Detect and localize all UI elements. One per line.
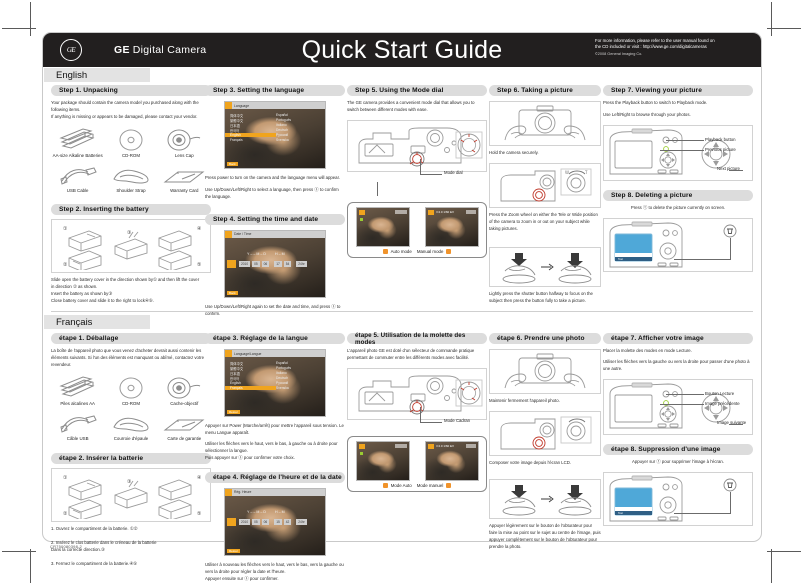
lang-row-selected[interactable]: FrançaisSvenska — [225, 386, 325, 391]
next-picture-label: Next picture — [717, 166, 740, 171]
item-strap: Courroie d'épaule — [104, 409, 157, 441]
lang-left: Français — [225, 386, 276, 390]
svg-text:③: ③ — [127, 479, 131, 485]
crop-mark-bottom-right-v — [771, 549, 772, 583]
playback-button-label: Playback button — [705, 137, 736, 142]
item-cdrom: CD-ROM — [104, 126, 157, 158]
step-6-title: Step 6. Taking a picture — [497, 87, 573, 94]
svg-text:②: ② — [63, 511, 68, 517]
lang-right: Italiano — [276, 371, 325, 375]
cd-rom-icon — [104, 126, 157, 152]
lang-left: 한국어 — [225, 376, 276, 381]
datetime-day[interactable]: 06 — [262, 519, 270, 525]
header-note-line2: the CD included or visit : http://www.ge… — [595, 44, 752, 50]
svg-text:T: T — [584, 170, 588, 175]
lcd-back-button[interactable]: Back — [227, 291, 238, 295]
item-lenscap: Cache-objectif — [158, 374, 211, 406]
step-1-title: Step 1. Unpacking — [59, 87, 118, 94]
etape-2-title: étape 2. Insérer la batterie — [59, 455, 143, 462]
lcd-menu-icon — [225, 231, 232, 238]
item-strap-label: Shoulder Strap — [104, 188, 157, 193]
etape-6-caption-3: Appuyer légèrement sur le bouton de l'ob… — [489, 523, 601, 551]
en-column-1: Step 1. Unpacking Your package should co… — [51, 85, 211, 305]
lcd-menu-titlebar: Language — [225, 102, 325, 109]
zoom-wheel-diagram-fr — [489, 411, 601, 456]
mode-dial-leader — [420, 407, 421, 423]
etape-4-body: Utiliser à nouveau les flèches vers le h… — [205, 562, 345, 583]
language-tab-english-label: English — [56, 70, 87, 81]
datetime-screen-en: Date / Time Y––M–D H–M 2010 05 06 17 54 … — [224, 230, 326, 298]
lang-row[interactable]: EnglishРусский — [225, 381, 325, 386]
etape-5-body: L'appareil photo GE est doté d'un sélect… — [347, 348, 487, 362]
step-2-body: Slide open the battery cover in the dire… — [51, 277, 211, 305]
shutter-press-diagram-en — [489, 247, 601, 287]
lang-left: English — [225, 381, 276, 385]
item-strap: Shoulder Strap — [104, 161, 157, 193]
lang-left: Français — [225, 138, 276, 142]
svg-text:④: ④ — [197, 475, 202, 481]
datetime-hour[interactable]: 17 — [274, 261, 282, 267]
item-usbcable-label: Câble USB — [51, 436, 104, 441]
item-batteries-label: Piles alcalines AA — [51, 401, 104, 406]
datetime-year[interactable]: 2010 — [239, 261, 250, 267]
auto-mode-label: Auto mode — [391, 249, 412, 254]
lang-right: Español — [276, 113, 325, 117]
lcd-menu-title: Language — [234, 104, 249, 108]
datetime-fields: 2010 05 06 15 42 24hr — [239, 519, 309, 525]
item-batteries: Piles alcalines AA — [51, 374, 104, 406]
item-warranty: Carte de garantie — [158, 409, 211, 441]
lcd-language-list: 简体中文Español 繁體中文Português 日本語Italiano 한국… — [225, 357, 325, 416]
mode-examples-box-fr: F4.0 1/60 EV Mode Auto Mode manuel — [347, 436, 487, 492]
lcd-menu-icon — [225, 102, 232, 109]
auto-mode-icon — [383, 483, 388, 488]
quick-start-sheet: GE GEDigital Camera Quick Start Guide Fo… — [42, 32, 762, 542]
etape-3-body-2: Utiliser les flèches vers le haut, vers … — [205, 441, 345, 462]
cd-rom-icon — [104, 374, 157, 400]
svg-text:④: ④ — [197, 226, 202, 232]
crop-mark-bottom-left-h — [2, 551, 36, 552]
item-cdrom-label: CD-ROM — [104, 153, 157, 158]
delete-menu-row-1: Suppression — [618, 253, 632, 256]
crop-mark-top-left-h — [2, 28, 36, 29]
page-canvas: GE GEDigital Camera Quick Start Guide Fo… — [0, 0, 802, 585]
fr-column-2: étape 3. Réglage de la langue Language/L… — [205, 333, 345, 583]
fr-column-5: étape 7. Afficher votre image Placer la … — [603, 333, 753, 526]
etape-1-title: étape 1. Déballage — [59, 335, 118, 342]
delete-menu-row-2: Tout — [618, 258, 623, 261]
etape-8-header: étape 8. Suppression d'une image — [603, 444, 753, 455]
datetime-header: Y––M–D H–M — [247, 252, 286, 256]
datetime-header-hm: H–M — [275, 252, 286, 256]
step-8-header: Step 8. Deleting a picture — [603, 190, 753, 201]
lang-left: 한국어 — [225, 128, 276, 133]
battery-insert-diagram-fr: ①② ③④⑤ — [51, 468, 211, 522]
warranty-card-icon — [158, 409, 211, 435]
mode-dial-leader — [420, 159, 421, 175]
auto-mode-screenshot — [356, 441, 410, 481]
svg-text:①: ① — [63, 226, 68, 232]
datetime-hour[interactable]: 15 — [274, 519, 282, 525]
crop-mark-bottom-left-v — [30, 549, 31, 583]
svg-text:②: ② — [63, 262, 68, 268]
lang-right: Svenska — [276, 138, 325, 142]
step-5-body: The GE camera provides a convenient mode… — [347, 100, 487, 114]
delete-picture-diagram-fr: Suppression Tout — [603, 472, 753, 526]
datetime-screen-fr: Rég. Heure Y––M–D H–M 2010 05 06 15 42 2… — [224, 488, 326, 556]
step-4-title: Step 4. Setting the time and date — [213, 216, 318, 223]
mode-captions-en: Auto mode Manual mode — [348, 249, 486, 254]
crop-mark-bottom-right-h — [767, 551, 801, 552]
etape-6-caption-1: Maintenir fermement l'appareil photo. — [489, 398, 601, 405]
etape-7-body-2: Utiliser les flèches vers la gauche ou v… — [603, 359, 753, 373]
mode-dial-callout-label: Mode dial — [444, 170, 463, 175]
etape-6-caption-2: Composer votre image depuis l'écran LCD. — [489, 460, 601, 467]
previous-picture-label: Previous picture — [705, 147, 736, 152]
svg-text:⑤: ⑤ — [197, 511, 201, 517]
datetime-fields: 2010 05 06 17 54 24hr — [239, 261, 309, 267]
camera-back-diagram-fr: Bouton Lecture Image précédente Image su… — [603, 379, 753, 435]
etape-3-title: étape 3. Réglage de la langue — [213, 335, 308, 342]
lcd-back-button[interactable]: Retour — [227, 549, 240, 553]
etape-6-title: étape 6. Prendre une photo — [497, 335, 585, 342]
step-5-header: Step 5. Using the Mode dial — [347, 85, 487, 96]
delete-menu-row-1: Suppression — [618, 507, 632, 510]
item-usbcable: USB Cable — [51, 161, 104, 193]
manual-mode-icon — [446, 483, 451, 488]
step-1-header: Step 1. Unpacking — [51, 85, 211, 96]
step-2-header: Step 2. Inserting the battery — [51, 204, 211, 215]
image-suivante-label: Image suivante — [717, 420, 746, 425]
step-7-title: Step 7. Viewing your picture — [611, 87, 702, 94]
en-column-4: Step 6. Taking a picture Hold the camera… — [489, 85, 601, 305]
lcd-menu-icon — [225, 350, 232, 357]
etape-7-body-1: Placer la molette des modes en mode Lect… — [603, 348, 753, 355]
lcd-menu-titlebar: Rég. Heure — [225, 489, 325, 496]
camera-back-diagram-en: Playback button Previous picture Next pi… — [603, 125, 753, 181]
lang-right: Deutsch — [276, 376, 325, 380]
playback-leader — [666, 140, 704, 141]
language-menu-screen-en: Language 简体中文Español 繁體中文Português 日本語It… — [224, 101, 326, 169]
lang-row[interactable]: FrançaisSvenska — [225, 138, 325, 143]
en-column-2: Step 3. Setting the language Language 简体… — [205, 85, 345, 318]
usb-cable-icon — [51, 161, 104, 187]
datetime-month[interactable]: 05 — [252, 519, 260, 525]
lang-right: Deutsch — [276, 128, 325, 132]
bouton-lecture-label: Bouton Lecture — [705, 391, 734, 396]
item-batteries-label: AA-size Alkaline Batteries — [51, 153, 104, 158]
delete-leader-h — [674, 513, 731, 514]
datetime-month[interactable]: 05 — [252, 261, 260, 267]
step-7-body-2: Use Left/Right to browse through your ph… — [603, 112, 753, 119]
svg-text:W: W — [565, 170, 569, 175]
delete-leader-h — [674, 259, 731, 260]
item-lenscap-label: Cache-objectif — [158, 401, 211, 406]
unpacking-items-fr: Piles alcalines AA CD-ROM — [51, 374, 211, 444]
delete-picture-diagram-en: Suppression Tout — [603, 218, 753, 272]
datetime-day[interactable]: 06 — [262, 261, 270, 267]
lang-right: Русский — [276, 381, 325, 385]
playback-leader — [666, 394, 704, 395]
en-column-3: Step 5. Using the Mode dial The GE camer… — [347, 85, 487, 258]
etape-3-body-1: Appuyer sur Power (Marche/arrêt) pour me… — [205, 423, 345, 437]
datetime-header-ymd: Y––M–D — [247, 510, 267, 514]
lcd-menu-titlebar: Language/Langue — [225, 350, 325, 357]
item-usbcable-label: USB Cable — [51, 188, 104, 193]
document-code: CR750080398-2 — [50, 544, 82, 549]
language-tab-francais-label: Français — [56, 317, 92, 328]
item-cdrom: CD-ROM — [104, 374, 157, 406]
lang-right: Italiano — [276, 123, 325, 127]
item-warranty-label: Carte de garantie — [158, 436, 211, 441]
manual-mode-label: Mode manuel — [417, 483, 444, 488]
etape-1-body: La boîte de l'appareil photo que vous ve… — [51, 348, 211, 369]
header-copyright: ©2008 General Imaging Co. — [595, 52, 752, 58]
etape-8-title: étape 8. Suppression d'une image — [611, 446, 721, 453]
image-precedente-label: Image précédente — [705, 401, 740, 406]
mode-dial-leader-h — [420, 422, 442, 423]
etape-8-body: Appuyer sur ⓣ pour supprimer l'image à l… — [603, 459, 753, 466]
shoulder-strap-icon — [104, 409, 157, 435]
lang-right: Português — [276, 118, 325, 122]
item-warranty: Warranty Card — [158, 161, 211, 193]
delete-menu-row-2: Tout — [618, 512, 623, 515]
crop-mark-top-left-v — [30, 2, 31, 36]
step-6-header: Step 6. Taking a picture — [489, 85, 601, 96]
item-strap-label: Courroie d'épaule — [104, 436, 157, 441]
language-menu-screen-fr: Language/Langue 简体中文Español 繁體中文Portuguê… — [224, 349, 326, 417]
step-8-body: Press ⓣ to delete the picture currently … — [603, 205, 753, 212]
datetime-header: Y––M–D H–M — [247, 510, 286, 514]
item-usbcable: Câble USB — [51, 409, 104, 441]
header-note: For more information, please refer to th… — [595, 38, 752, 58]
etape-5-header: étape 5. Utilisation de la molette des m… — [347, 333, 487, 344]
lang-right: Svenska — [276, 386, 325, 390]
mode-dial-callout-label: Mode Cadran — [444, 418, 470, 423]
svg-text:①: ① — [63, 475, 68, 481]
batteries-icon — [51, 374, 104, 400]
step-3-body-1: Press power to turn on the camera and th… — [205, 175, 345, 182]
step-4-header: Step 4. Setting the time and date — [205, 214, 345, 225]
mode-dial-leader-h — [420, 174, 442, 175]
section-divider — [51, 311, 753, 312]
camera-top-diagram-en: Mode dial — [347, 120, 487, 172]
lang-right: Português — [276, 366, 325, 370]
datetime-selector-highlight — [227, 260, 236, 268]
manual-mode-label: Manual mode — [417, 249, 444, 254]
manual-mode-screenshot: F4.0 1/60 EV — [425, 207, 479, 247]
crop-mark-top-right-h — [767, 28, 801, 29]
warranty-card-icon — [158, 161, 211, 187]
step-5-title: Step 5. Using the Mode dial — [355, 87, 443, 94]
step-3-body-2: Use Up/Down/Left/Right to select a langu… — [205, 187, 345, 201]
prev-leader — [660, 150, 704, 151]
etape-6-header: étape 6. Prendre une photo — [489, 333, 601, 344]
usb-cable-icon — [51, 409, 104, 435]
language-tab-francais[interactable]: Français — [44, 315, 150, 329]
step-6-caption-1: Hold the camera securely. — [489, 150, 601, 157]
fr-column-1: étape 1. Déballage La boîte de l'apparei… — [51, 333, 211, 568]
datetime-format[interactable]: 24hr — [296, 519, 306, 525]
mode-branch-v — [377, 182, 378, 196]
header-bar: GE GEDigital Camera Quick Start Guide Fo… — [43, 33, 761, 67]
datetime-format[interactable]: 24hr — [296, 261, 306, 267]
step-6-caption-2: Press the Zoom wheel on either the Tele … — [489, 212, 601, 233]
step-3-title: Step 3. Setting the language — [213, 87, 304, 94]
step-8-title: Step 8. Deleting a picture — [611, 192, 692, 199]
etape-5-title: étape 5. Utilisation de la molette des m… — [355, 332, 487, 346]
crop-mark-top-right-v — [771, 2, 772, 36]
item-cdrom-label: CD-ROM — [104, 401, 157, 406]
delete-leader-v — [730, 238, 731, 260]
etape-7-header: étape 7. Afficher votre image — [603, 333, 753, 344]
lang-right: Español — [276, 361, 325, 365]
manual-mode-icon — [446, 249, 451, 254]
lcd-language-list: 简体中文Español 繁體中文Português 日本語Italiano 한국… — [225, 109, 325, 168]
datetime-year[interactable]: 2010 — [239, 519, 250, 525]
lang-row[interactable]: 한국어Deutsch — [225, 128, 325, 133]
lcd-back-button[interactable]: Back — [227, 162, 238, 166]
camera-top-diagram-fr: Mode Cadran — [347, 368, 487, 420]
lang-right: Русский — [276, 133, 325, 137]
delete-leader-v — [730, 492, 731, 514]
svg-text:⑤: ⑤ — [197, 262, 201, 268]
datetime-header-hm: H–M — [275, 510, 286, 514]
step-7-body-1: Press the Playback button to switch to P… — [603, 100, 753, 107]
step-6-caption-3: Lightly press the shutter button halfway… — [489, 291, 601, 305]
lcd-back-button[interactable]: Retour — [227, 410, 240, 414]
unpacking-items-en: AA-size Alkaline Batteries CD-ROM — [51, 126, 211, 196]
en-column-5: Step 7. Viewing your picture Press the P… — [603, 85, 753, 272]
datetime-minute[interactable]: 54 — [284, 261, 292, 267]
lang-row-selected[interactable]: EnglishРусский — [225, 133, 325, 138]
lcd-menu-titlebar: Date / Time — [225, 231, 325, 238]
step-2-title: Step 2. Inserting the battery — [59, 206, 149, 213]
fr-column-3: étape 5. Utilisation de la molette des m… — [347, 333, 487, 492]
lcd-menu-title: Language/Langue — [234, 352, 261, 356]
etape-3-header: étape 3. Réglage de la langue — [205, 333, 345, 344]
etape-1-header: étape 1. Déballage — [51, 333, 211, 344]
batteries-icon — [51, 126, 104, 152]
mode-captions-fr: Mode Auto Mode manuel — [348, 483, 486, 488]
prev-leader — [660, 404, 704, 405]
lang-left: English — [225, 133, 276, 137]
auto-mode-label: Mode Auto — [391, 483, 412, 488]
shoulder-strap-icon — [104, 161, 157, 187]
item-lenscap-label: Lens Cap — [158, 153, 211, 158]
fr-column-4: étape 6. Prendre une photo Maintenir fer… — [489, 333, 601, 551]
mode-examples-box-en: F4.0 1/60 EV Auto mode Manual mode — [347, 202, 487, 258]
lang-row[interactable]: 한국어Deutsch — [225, 376, 325, 381]
lcd-menu-title: Date / Time — [234, 232, 251, 236]
lcd-menu-icon — [225, 489, 232, 496]
datetime-selector-highlight — [227, 518, 236, 526]
etape-4-title: étape 4. Réglage de l'heure et de la dat… — [213, 474, 342, 481]
step-1-body: Your package should contain the camera m… — [51, 100, 211, 121]
step-7-header: Step 7. Viewing your picture — [603, 85, 753, 96]
svg-text:③: ③ — [127, 230, 131, 236]
item-batteries: AA-size Alkaline Batteries — [51, 126, 104, 158]
auto-mode-screenshot — [356, 207, 410, 247]
manual-mode-screenshot: F4.0 1/60 EV — [425, 441, 479, 481]
etape-4-header: étape 4. Réglage de l'heure et de la dat… — [205, 472, 345, 483]
language-tab-english[interactable]: English — [44, 68, 150, 82]
datetime-minute[interactable]: 42 — [284, 519, 292, 525]
item-warranty-label: Warranty Card — [158, 188, 211, 193]
shutter-press-diagram-fr — [489, 479, 601, 519]
hold-camera-diagram-fr — [489, 349, 601, 394]
auto-mode-icon — [383, 249, 388, 254]
lens-cap-icon — [158, 126, 211, 152]
datetime-header-ymd: Y––M–D — [247, 252, 267, 256]
item-lenscap: Lens Cap — [158, 126, 211, 158]
etape-2-header: étape 2. Insérer la batterie — [51, 453, 211, 464]
etape-7-title: étape 7. Afficher votre image — [611, 335, 704, 342]
lens-cap-icon — [158, 374, 211, 400]
zoom-wheel-diagram-en: W T — [489, 163, 601, 208]
step-3-header: Step 3. Setting the language — [205, 85, 345, 96]
battery-insert-diagram-en: ①② ③④⑤ — [51, 219, 211, 273]
hold-camera-diagram-en — [489, 101, 601, 146]
lcd-menu-title: Rég. Heure — [234, 490, 251, 494]
